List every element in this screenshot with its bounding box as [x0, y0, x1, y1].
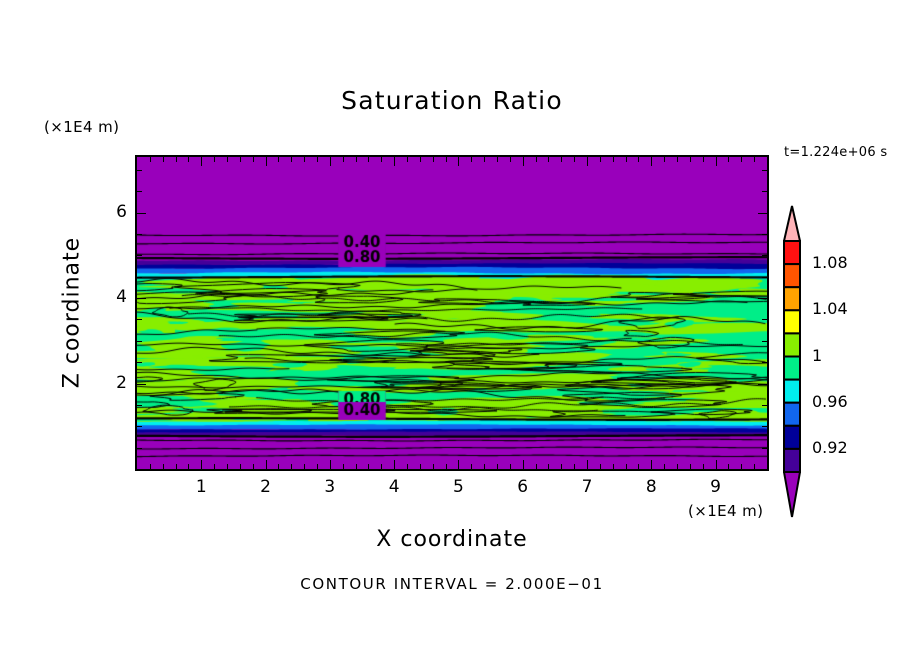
x-tick-bottom [317, 464, 318, 469]
x-tick-top [291, 157, 292, 162]
y-tick-left [137, 384, 146, 385]
colorbar [783, 205, 801, 518]
x-tick-top [304, 157, 305, 162]
y-tick-label: 6 [101, 202, 127, 222]
x-tick-top [201, 157, 202, 166]
x-tick-bottom [291, 464, 292, 469]
y-tick-left [137, 448, 142, 449]
y-tick-left [137, 362, 142, 363]
x-tick-top [600, 157, 601, 162]
y-tick-left [137, 341, 142, 342]
x-tick-top [741, 157, 742, 162]
y-tick-left [137, 191, 142, 192]
y-tick-right [762, 255, 767, 256]
x-tick-top [536, 157, 537, 162]
y-tick-right [758, 384, 767, 385]
colorbar-tick-label: 0.92 [812, 438, 848, 457]
x-tick-top [253, 157, 254, 162]
x-tick-bottom [201, 460, 202, 469]
y-axis-title: Z coordinate [60, 203, 85, 423]
x-tick-top [471, 157, 472, 162]
x-tick-label: 6 [503, 477, 543, 497]
x-tick-top [420, 157, 421, 162]
y-tick-left [137, 298, 146, 299]
x-axis-unit-label: (×1E4 m) [688, 502, 763, 520]
x-tick-bottom [368, 464, 369, 469]
time-stamp-label: t=1.224e+06 s [784, 145, 887, 160]
x-tick-bottom [613, 464, 614, 469]
x-tick-top [266, 157, 267, 166]
x-tick-top [690, 157, 691, 162]
y-tick-right [762, 277, 767, 278]
x-tick-bottom [497, 464, 498, 469]
x-tick-label: 9 [696, 477, 736, 497]
x-tick-label: 8 [631, 477, 671, 497]
y-tick-right [762, 234, 767, 235]
y-tick-left [137, 277, 142, 278]
x-axis-title: X coordinate [135, 527, 769, 552]
contour-interval-note: CONTOUR INTERVAL = 2.000E−01 [0, 575, 904, 593]
x-tick-bottom [458, 460, 459, 469]
x-tick-bottom [150, 464, 151, 469]
x-tick-bottom [626, 464, 627, 469]
y-tick-right [762, 362, 767, 363]
y-tick-right [762, 170, 767, 171]
colorbar-tick-label: 1.08 [812, 253, 848, 272]
x-tick-bottom [664, 464, 665, 469]
x-tick-top [677, 157, 678, 162]
x-tick-bottom [677, 464, 678, 469]
x-tick-bottom [484, 464, 485, 469]
x-tick-bottom [253, 464, 254, 469]
x-tick-label: 5 [438, 477, 478, 497]
x-tick-top [587, 157, 588, 166]
x-tick-top [497, 157, 498, 162]
x-tick-top [330, 157, 331, 166]
x-tick-bottom [471, 464, 472, 469]
x-tick-bottom [214, 464, 215, 469]
x-tick-bottom [176, 464, 177, 469]
y-tick-left [137, 170, 142, 171]
x-tick-top [574, 157, 575, 162]
x-tick-top [227, 157, 228, 162]
y-tick-right [762, 405, 767, 406]
y-tick-right [758, 213, 767, 214]
x-tick-bottom [188, 464, 189, 469]
y-tick-right [762, 426, 767, 427]
x-tick-top [651, 157, 652, 166]
x-tick-top [317, 157, 318, 162]
x-tick-bottom [767, 464, 768, 469]
y-tick-left [137, 213, 146, 214]
x-tick-top [278, 157, 279, 162]
x-tick-bottom [240, 464, 241, 469]
x-tick-top [754, 157, 755, 162]
x-tick-top [510, 157, 511, 162]
x-tick-top [703, 157, 704, 162]
x-tick-bottom [278, 464, 279, 469]
x-tick-top [767, 157, 768, 162]
x-tick-bottom [420, 464, 421, 469]
x-tick-label: 1 [181, 477, 221, 497]
x-tick-top [356, 157, 357, 162]
x-tick-bottom [716, 460, 717, 469]
colorbar-tick-label: 1.04 [812, 299, 848, 318]
x-tick-bottom [356, 464, 357, 469]
x-tick-bottom [266, 460, 267, 469]
x-tick-bottom [728, 464, 729, 469]
x-tick-top [407, 157, 408, 162]
y-tick-label: 2 [101, 373, 127, 393]
x-tick-top [523, 157, 524, 166]
x-tick-top [484, 157, 485, 162]
x-tick-bottom [561, 464, 562, 469]
z-axis-unit-label: (×1E4 m) [44, 118, 119, 136]
x-tick-bottom [304, 464, 305, 469]
x-tick-top [214, 157, 215, 162]
x-tick-bottom [381, 464, 382, 469]
x-tick-bottom [651, 460, 652, 469]
x-tick-top [433, 157, 434, 162]
x-tick-top [728, 157, 729, 162]
x-tick-bottom [510, 464, 511, 469]
x-tick-bottom [741, 464, 742, 469]
x-tick-label: 2 [246, 477, 286, 497]
y-tick-right [762, 319, 767, 320]
x-tick-bottom [587, 460, 588, 469]
x-tick-top [176, 157, 177, 162]
x-tick-bottom [446, 464, 447, 469]
x-tick-top [163, 157, 164, 162]
x-tick-top [716, 157, 717, 166]
page-title: Saturation Ratio [0, 86, 904, 115]
colorbar-tick-label: 0.96 [812, 392, 848, 411]
colorbar-tick-label: 1 [812, 346, 822, 365]
x-tick-bottom [536, 464, 537, 469]
x-tick-top [613, 157, 614, 162]
x-tick-bottom [600, 464, 601, 469]
x-tick-label: 3 [310, 477, 350, 497]
x-tick-top [240, 157, 241, 162]
x-tick-top [626, 157, 627, 162]
x-tick-bottom [574, 464, 575, 469]
y-tick-right [758, 298, 767, 299]
y-tick-left [137, 426, 142, 427]
x-tick-top [188, 157, 189, 162]
contour-plot-figure: Saturation Ratio (×1E4 m) t=1.224e+06 s … [0, 0, 904, 654]
x-tick-top [548, 157, 549, 162]
x-tick-bottom [690, 464, 691, 469]
x-tick-top [381, 157, 382, 162]
x-tick-bottom [754, 464, 755, 469]
x-tick-top [368, 157, 369, 162]
x-tick-bottom [227, 464, 228, 469]
x-tick-bottom [394, 460, 395, 469]
x-tick-bottom [703, 464, 704, 469]
y-tick-left [137, 405, 142, 406]
x-tick-bottom [163, 464, 164, 469]
x-tick-top [394, 157, 395, 166]
y-tick-right [762, 191, 767, 192]
x-tick-bottom [330, 460, 331, 469]
y-tick-label: 4 [101, 287, 127, 307]
x-tick-bottom [548, 464, 549, 469]
x-tick-bottom [638, 464, 639, 469]
y-tick-right [762, 448, 767, 449]
y-tick-left [137, 255, 142, 256]
x-tick-top [343, 157, 344, 162]
x-tick-top [446, 157, 447, 162]
x-tick-top [664, 157, 665, 162]
x-tick-label: 7 [567, 477, 607, 497]
x-tick-top [150, 157, 151, 162]
x-tick-bottom [523, 460, 524, 469]
y-tick-left [137, 319, 142, 320]
y-tick-right [762, 341, 767, 342]
y-tick-left [137, 234, 142, 235]
x-tick-top [638, 157, 639, 162]
x-tick-bottom [343, 464, 344, 469]
x-tick-bottom [407, 464, 408, 469]
contour-field-canvas [137, 157, 767, 469]
x-tick-bottom [433, 464, 434, 469]
x-tick-top [561, 157, 562, 162]
plot-area [135, 155, 769, 471]
x-tick-top [458, 157, 459, 166]
x-tick-label: 4 [374, 477, 414, 497]
